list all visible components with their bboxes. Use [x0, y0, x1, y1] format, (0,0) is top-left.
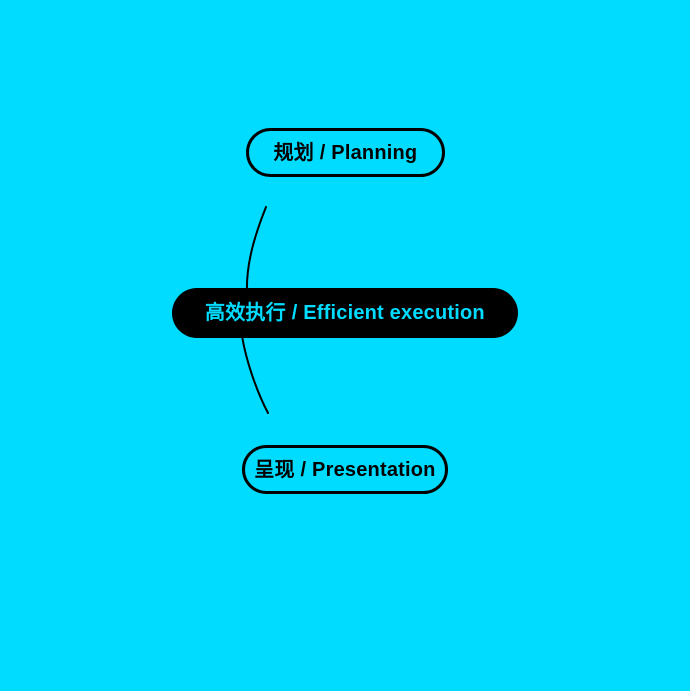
node-efficient-execution[interactable]: 高效执行 / Efficient execution [172, 288, 518, 338]
connector-execution-to-presentation [242, 336, 268, 413]
node-presentation-label: 呈现 / Presentation [254, 460, 435, 480]
node-planning[interactable]: 规划 / Planning [246, 128, 445, 177]
diagram-canvas: 规划 / Planning 高效执行 / Efficient execution… [0, 0, 690, 691]
connector-layer [0, 0, 690, 691]
node-presentation[interactable]: 呈现 / Presentation [242, 445, 448, 494]
node-planning-label: 规划 / Planning [274, 143, 418, 163]
connector-planning-to-execution [247, 207, 266, 292]
node-efficient-execution-label: 高效执行 / Efficient execution [205, 303, 485, 323]
